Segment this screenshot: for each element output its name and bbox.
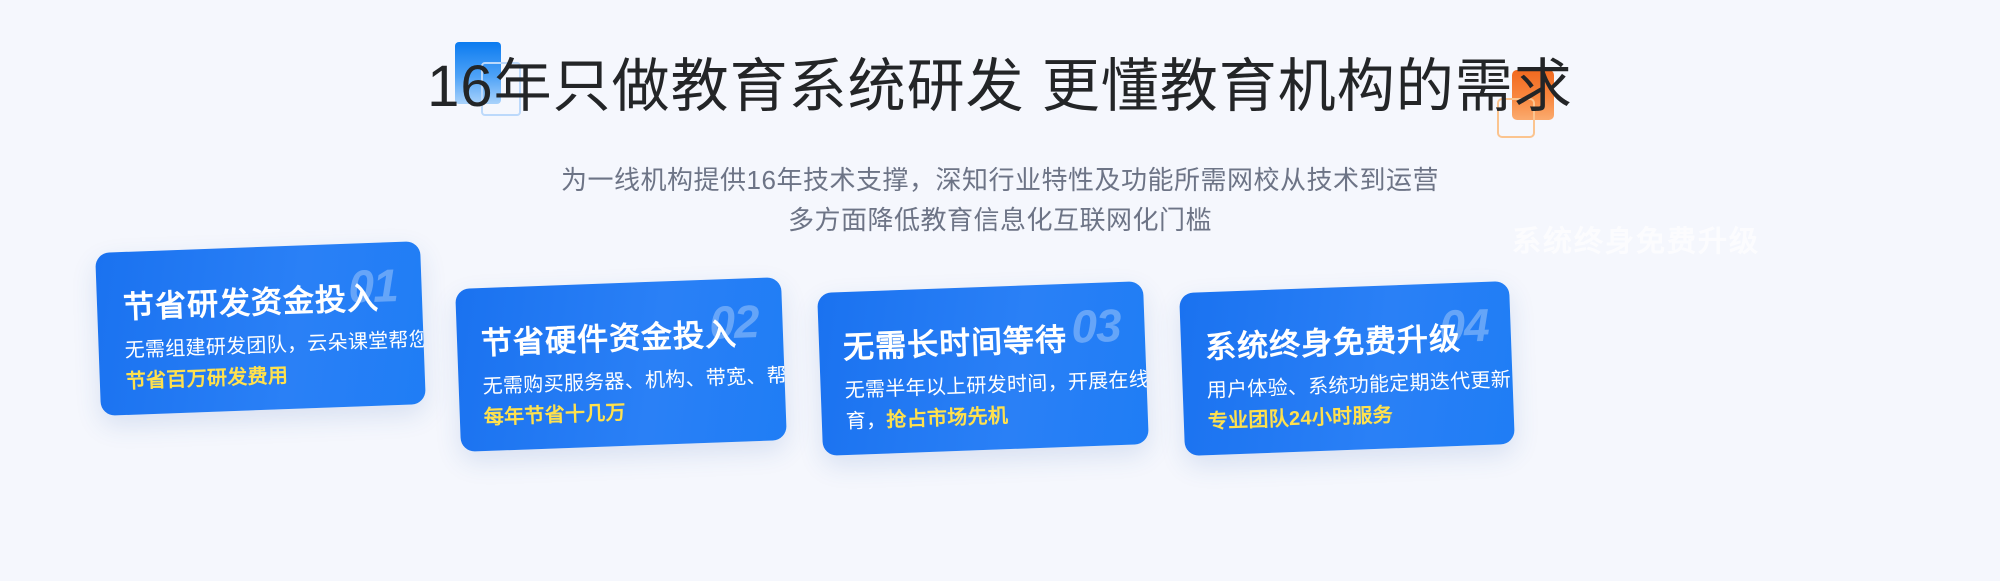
card-title: 节省研发资金投入: [122, 273, 379, 327]
card-desc-line-2-text: 育，: [845, 410, 886, 433]
feature-card-list: 01 节省研发资金投入 无需组建研发团队，云朵课堂帮您 节省百万研发费用 02 …: [0, 0, 2000, 581]
card-description: 无需购买服务器、机构、带宽、帮您 每年节省十几万: [482, 360, 787, 434]
card-title: 无需长时间等待: [842, 314, 1067, 367]
feature-card-02[interactable]: 02 节省硬件资金投入 无需购买服务器、机构、带宽、帮您 每年节省十几万: [455, 277, 787, 452]
card-description: 无需半年以上研发时间，开展在线教 育，抢占市场先机: [844, 364, 1149, 438]
feature-card-01[interactable]: 01 节省研发资金投入 无需组建研发团队，云朵课堂帮您 节省百万研发费用: [95, 241, 426, 416]
card-description: 用户体验、系统功能定期迭代更新， 专业团队24小时服务: [1206, 364, 1515, 438]
feature-card-03[interactable]: 03 无需长时间等待 无需半年以上研发时间，开展在线教 育，抢占市场先机: [817, 281, 1149, 456]
card-title: 系统终身免费升级: [1204, 313, 1461, 367]
card-description: 无需组建研发团队，云朵课堂帮您 节省百万研发费用: [124, 325, 426, 398]
card-title: 节省硬件资金投入: [480, 309, 737, 363]
feature-card-04[interactable]: 04 系统终身免费升级 用户体验、系统功能定期迭代更新， 专业团队24小时服务: [1179, 281, 1515, 456]
card-number-badge: 03: [1070, 298, 1121, 354]
card-desc-highlight: 抢占市场先机: [886, 405, 1009, 431]
promo-banner: 16年只做教育系统研发 更懂教育机构的需求 为一线机构提供16年技术支撑，深知行…: [0, 0, 2000, 581]
